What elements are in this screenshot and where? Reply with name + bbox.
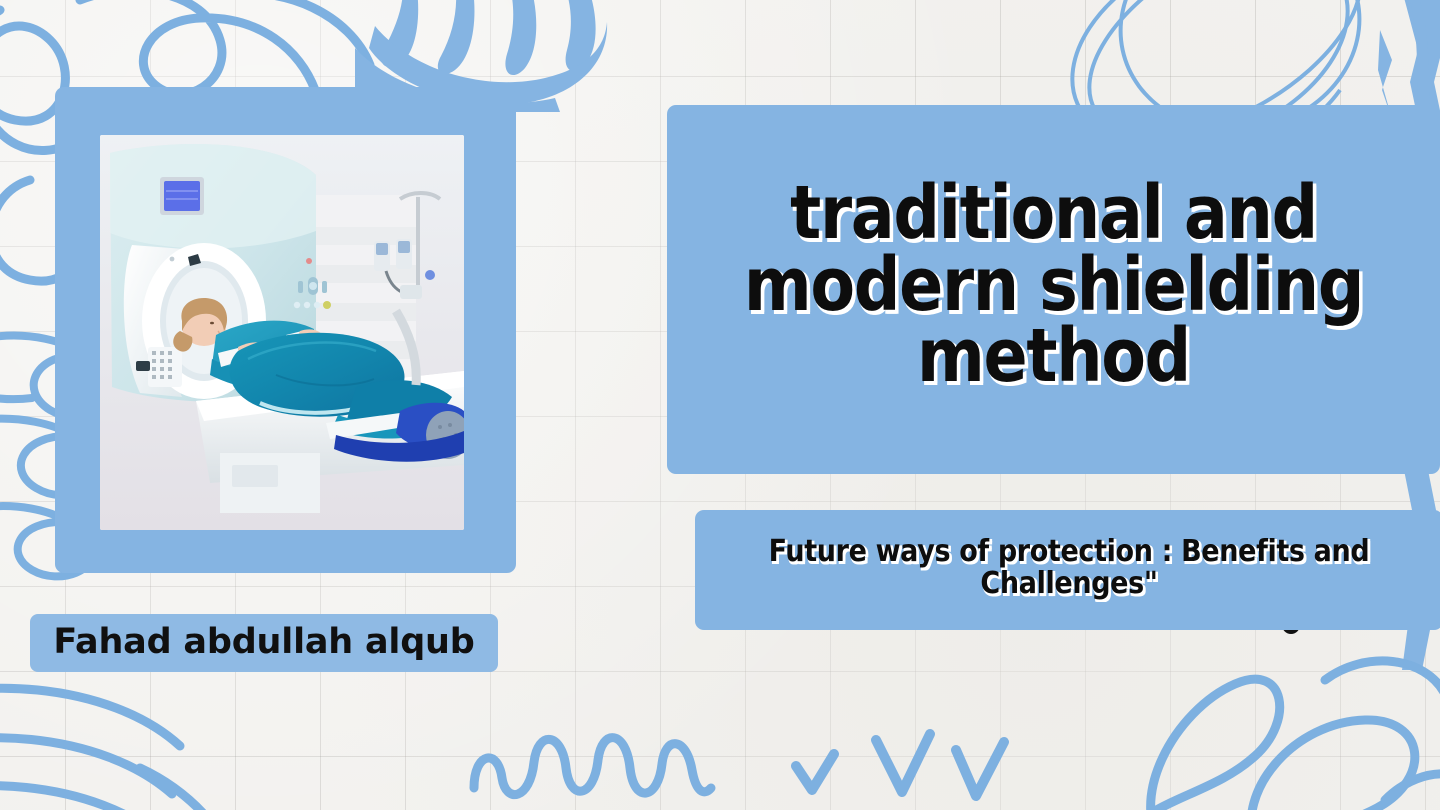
slide-canvas: traditional and modern shielding method … (0, 0, 1440, 810)
photo-frame (55, 87, 516, 573)
subtitle-box: Future ways of protection : Benefits and… (695, 510, 1440, 630)
page-subtitle: Future ways of protection : Benefits and… (759, 536, 1378, 600)
ct-scanner-photo (100, 135, 464, 530)
scribble-loops-bottom-right-icon (1085, 650, 1440, 810)
arcs-bottom-left-icon (0, 676, 300, 810)
page-title: traditional and modern shielding method (736, 178, 1370, 393)
author-box: Fahad abdullah alqub (30, 614, 498, 672)
ct-scanner-illustration (100, 135, 464, 530)
zigzag-wave-bottom-center-icon (468, 726, 738, 796)
check-marks-bottom-center-icon (790, 730, 1020, 808)
author-name: Fahad abdullah alqub (53, 622, 474, 662)
title-box: traditional and modern shielding method (667, 105, 1440, 474)
